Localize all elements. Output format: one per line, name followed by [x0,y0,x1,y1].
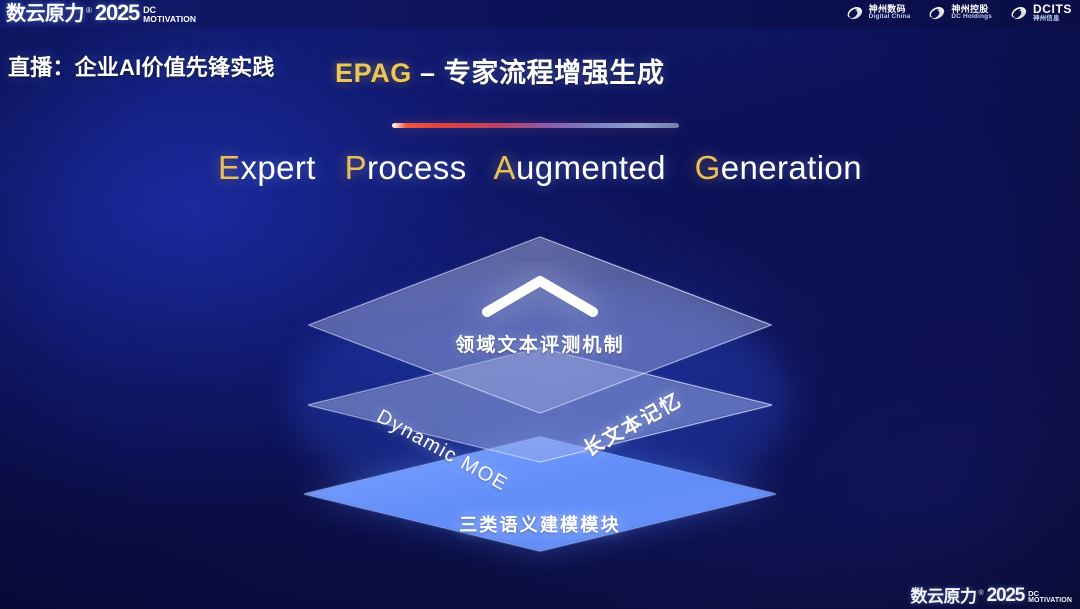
subtitle-word-expert: Expert [218,149,316,186]
page-title: EPAG – 专家流程增强生成 [335,51,665,90]
subtitle-word-generation: Generation [695,149,862,186]
subtitle-cap-g: G [695,149,721,186]
logo-label-en: Digital China [869,14,911,21]
subtitle-word-augmented: Augmented [494,149,666,186]
subtitle-cap-p: P [345,149,367,186]
subtitle-cap-e: E [218,149,240,186]
brand-year: 2025 [95,2,139,24]
subtitle-cap-a: A [494,149,516,186]
subtitle-space-2 [476,149,486,186]
slide-stage: 数云原力 ® 2025 DC MOTIVATION 神州数码 Digital C… [0,0,1080,609]
logo-dc-holdings-text: 神州控股 DC Holdings [951,5,992,21]
logo-label-cn: DCITS [1033,3,1072,16]
swirl-icon [1009,3,1029,23]
top-bar: 数云原力 ® 2025 DC MOTIVATION 神州数码 Digital C… [0,0,1080,28]
logo-dc-holdings: 神州控股 DC Holdings [927,3,992,23]
brand-lockup: 数云原力 ® 2025 DC MOTIVATION [6,2,196,24]
watermark-brand-lockup: 数云原力 ® 2025 DC MOTIVATION [910,586,1072,605]
live-stream-title: 直播：企业AI价值先锋实践 [8,50,275,82]
subtitle-expansion: Expert Process Augmented Generation [0,149,1080,187]
watermark-registered-mark: ® [978,590,983,597]
page-title-cn: 专家流程增强生成 [444,58,665,88]
subtitle-rest-augmented: ugmented [516,149,666,186]
title-divider [392,123,679,128]
watermark-motivation-text: MOTIVATION [1028,597,1072,604]
layered-architecture-diagram: 领域文本评测机制 Dynamic MOE 长文本记忆 三类语义建模模块 [0,0,1080,609]
subtitle-word-process: Process [345,149,467,186]
layer-stack-svg [0,0,1080,609]
subtitle-space-1 [325,149,335,186]
brand-registered-mark: ® [86,7,92,15]
swirl-icon [845,3,865,23]
logo-digital-china: 神州数码 Digital China [845,3,911,23]
page-title-acronym: EPAG [335,58,412,88]
logo-dcits-text: DCITS 神州信息 [1033,3,1072,22]
brand-dc-motivation: DC MOTIVATION [143,6,196,24]
watermark-brand-year: 2025 [987,586,1024,605]
logo-dcits: DCITS 神州信息 [1009,3,1072,23]
logo-digital-china-text: 神州数码 Digital China [869,5,911,21]
page-title-dash: – [412,58,444,88]
subtitle-rest-process: rocess [367,149,467,186]
brand-name-cn: 数云原力 [6,4,84,24]
partner-logos: 神州数码 Digital China 神州控股 DC Holdings [845,3,1072,23]
watermark-dc-text: DC [1028,590,1072,598]
watermark-dc-motivation: DC MOTIVATION [1028,590,1072,605]
subtitle-rest-generation: eneration [721,149,862,186]
brand-motivation-text: MOTIVATION [143,15,196,24]
subtitle-space-3 [676,149,686,186]
watermark-brand-name-cn: 数云原力 [910,588,976,605]
swirl-icon [927,3,947,23]
logo-label-en: DC Holdings [951,14,992,21]
logo-label-en: 神州信息 [1033,16,1072,23]
subtitle-rest-expert: xpert [240,149,315,186]
